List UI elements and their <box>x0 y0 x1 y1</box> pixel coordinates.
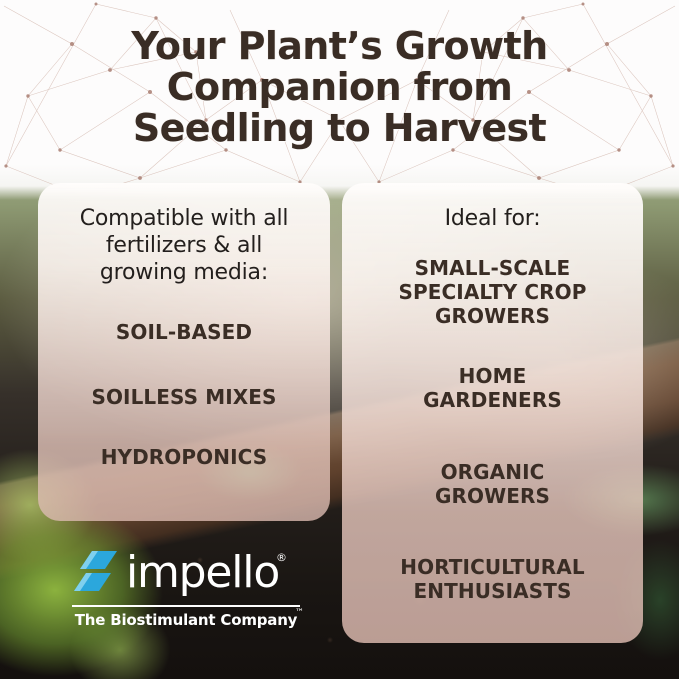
impello-leaf-chevron-icon <box>72 549 120 599</box>
poster-canvas: Your Plant’s Growth Companion from Seedl… <box>0 0 679 679</box>
list-item: SOIL-BASED <box>38 320 330 344</box>
list-item: SMALL-SCALE SPECIALTY CROP GROWERS <box>342 256 643 328</box>
logo-tagline: The Biostimulant Company <box>62 611 310 630</box>
page-headline: Your Plant’s Growth Companion from Seedl… <box>0 26 679 149</box>
panel-left-lede: Compatible with all fertilizers & all gr… <box>38 205 330 286</box>
logo-row: impello ® <box>62 545 310 603</box>
list-item: HYDROPONICS <box>38 445 330 469</box>
panel-compatible-with: Compatible with all fertilizers & all gr… <box>38 183 330 521</box>
logo-divider <box>72 605 300 607</box>
list-item: HOME GARDENERS <box>342 364 643 412</box>
list-item: ORGANIC GROWERS <box>342 460 643 508</box>
list-item: HORTICULTURAL ENTHUSIASTS <box>342 555 643 603</box>
registered-trademark-icon: ® <box>276 552 287 563</box>
brand-logo-lockup: impello ® The Biostimulant Company ™ <box>62 545 310 635</box>
logo-wordmark: impello <box>126 548 279 598</box>
panel-right-lede: Ideal for: <box>342 205 643 232</box>
panel-ideal-for: Ideal for: SMALL-SCALE SPECIALTY CROP GR… <box>342 183 643 643</box>
list-item: SOILLESS MIXES <box>38 385 330 409</box>
trademark-icon: ™ <box>295 609 304 618</box>
